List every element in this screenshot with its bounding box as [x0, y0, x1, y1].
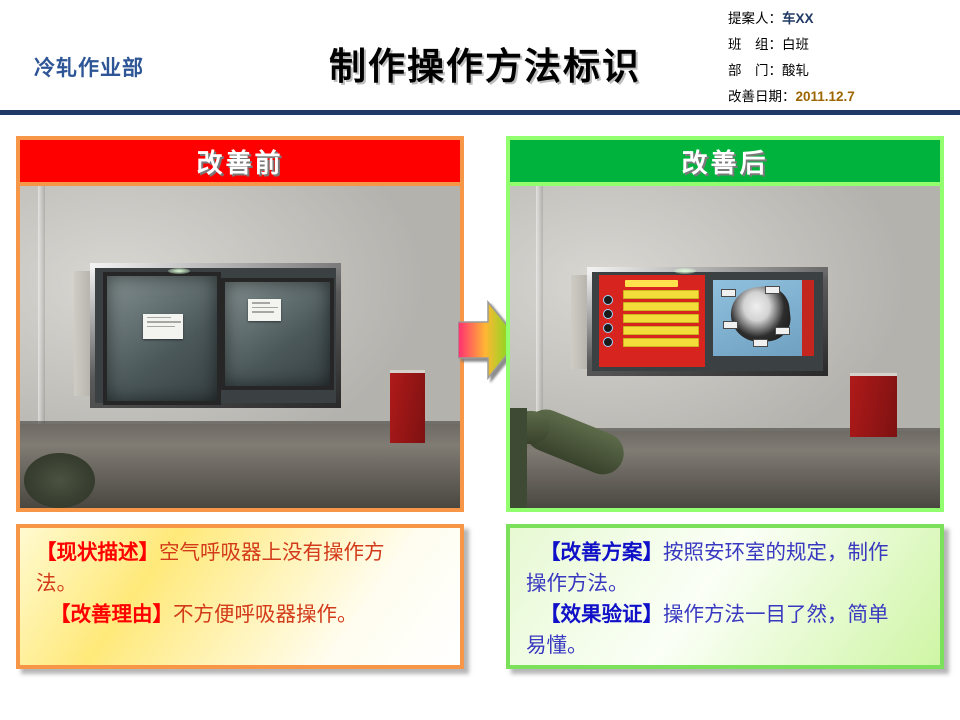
tag-improvement-plan: 【改善方案】	[540, 542, 663, 564]
meta-value-proposer: 车XX	[782, 11, 814, 26]
header-divider	[0, 110, 960, 115]
panel-before: 改善前	[16, 136, 464, 512]
textbox-after-line-4: 易懂。	[526, 631, 926, 662]
meta-row-date: 改善日期：2011.12.7	[728, 84, 938, 110]
panel-before-heading: 改善前	[16, 136, 464, 182]
meta-row-shift: 班 组：白班	[728, 32, 938, 58]
meta-value-department: 酸轧	[782, 63, 809, 78]
meta-block: 提案人：车XX 班 组：白班 部 门：酸轧 改善日期：2011.12.7	[728, 6, 938, 110]
tag-improvement-reason: 【改善理由】	[50, 604, 173, 626]
textbox-after: 【改善方案】按照安环室的规定，制作 操作方法。 【效果验证】操作方法一目了然，简…	[506, 524, 944, 669]
tag-effect-verification: 【效果验证】	[540, 604, 663, 626]
textbox-before-body-2: 法。	[36, 573, 77, 595]
tag-current-status: 【现状描述】	[36, 542, 159, 564]
textbox-after-line-3: 【效果验证】操作方法一目了然，简单	[526, 600, 926, 631]
textbox-after-body-4: 易懂。	[526, 635, 588, 657]
meta-label-proposer: 提案人：	[728, 6, 782, 32]
meta-value-shift: 白班	[782, 37, 809, 52]
panel-after-heading: 改善后	[506, 136, 944, 182]
meta-row-department: 部 门：酸轧	[728, 58, 938, 84]
textbox-after-body-2: 操作方法。	[526, 573, 629, 595]
textbox-before-line-3: 【改善理由】不方便呼吸器操作。	[36, 600, 446, 631]
textbox-after-body-1: 按照安环室的规定，制作	[663, 542, 889, 564]
textbox-before-line-1: 【现状描述】空气呼吸器上没有操作方	[36, 538, 446, 569]
meta-label-shift: 班 组：	[728, 32, 782, 58]
panel-after-photo	[506, 182, 944, 512]
panel-before-photo	[16, 182, 464, 512]
meta-value-date: 2011.12.7	[796, 89, 855, 104]
slide-canvas: 冷轧作业部 制作操作方法标识 提案人：车XX 班 组：白班 部 门：酸轧 改善日…	[0, 0, 960, 720]
textbox-after-line-2: 操作方法。	[526, 569, 926, 600]
panel-after: 改善后	[506, 136, 944, 512]
meta-row-proposer: 提案人：车XX	[728, 6, 938, 32]
textbox-before: 【现状描述】空气呼吸器上没有操作方 法。 【改善理由】不方便呼吸器操作。	[16, 524, 464, 669]
textbox-after-line-1: 【改善方案】按照安环室的规定，制作	[526, 538, 926, 569]
meta-label-date: 改善日期：	[728, 84, 796, 110]
textbox-after-body-3: 操作方法一目了然，简单	[663, 604, 889, 626]
textbox-before-line-2: 法。	[36, 569, 446, 600]
textbox-before-body-3: 不方便呼吸器操作。	[173, 604, 358, 626]
meta-label-department: 部 门：	[728, 58, 782, 84]
textbox-before-body-1: 空气呼吸器上没有操作方	[159, 542, 385, 564]
